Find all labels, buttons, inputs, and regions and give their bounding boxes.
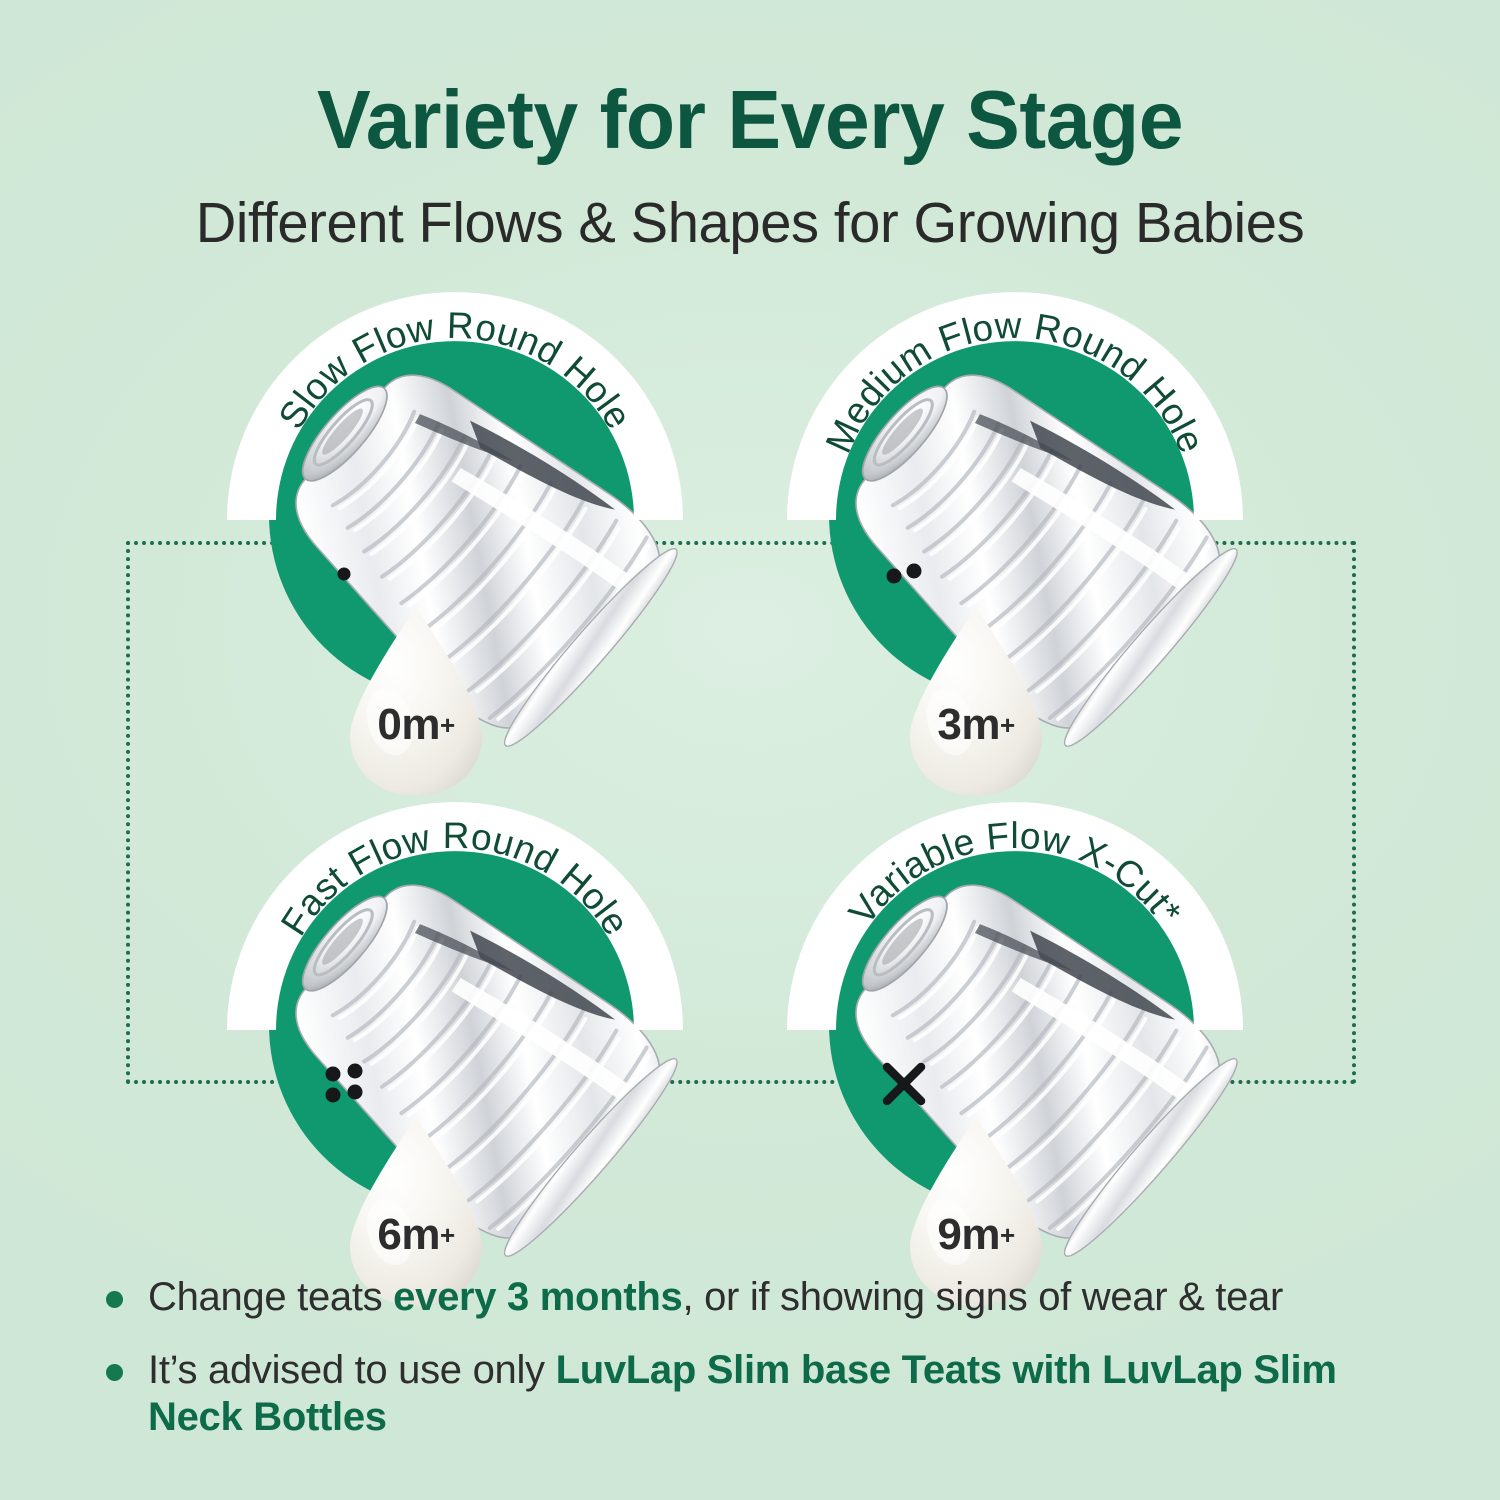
note-highlight: every 3 months [393,1275,682,1319]
notes-list: Change teats every 3 months, or if showi… [100,1274,1440,1466]
note-item: Change teats every 3 months, or if showi… [100,1274,1440,1321]
bullet-dot-icon [106,1291,123,1308]
arc-label-band: Variable Flow X-Cut* [782,792,1248,1258]
note-plain: Change teats [148,1275,393,1319]
arc-label-text: Fast Flow Round Hole [273,815,637,942]
arc-label-band: Fast Flow Round Hole [222,792,688,1258]
note-item: It’s advised to use only LuvLap Slim bas… [100,1347,1440,1441]
note-plain: , or if showing signs of wear & tear [682,1275,1283,1319]
teat-card-fast-flow: Fast Flow Round Hole6m+ [222,792,688,1292]
note-plain: It’s advised to use only [148,1348,556,1392]
teat-disc: Fast Flow Round Hole [222,792,688,1258]
arc-label-text: Variable Flow X-Cut* [841,815,1190,932]
arc-label-text: Slow Flow Round Hole [271,305,640,436]
note-text: It’s advised to use only LuvLap Slim bas… [148,1347,1440,1441]
arc-label-text: Medium Flow Round Hole [818,305,1213,459]
note-text: Change teats every 3 months, or if showi… [148,1274,1440,1321]
teat-disc: Slow Flow Round Hole [222,282,688,748]
bullet-dot-icon [106,1364,123,1381]
arc-label-band: Medium Flow Round Hole [782,282,1248,748]
teat-card-slow-flow: Slow Flow Round Hole0m+ [222,282,688,782]
teat-disc: Variable Flow X-Cut* [782,792,1248,1258]
arc-label-band: Slow Flow Round Hole [222,282,688,748]
teat-disc: Medium Flow Round Hole [782,282,1248,748]
teat-card-medium-flow: Medium Flow Round Hole3m+ [782,282,1248,782]
infographic-canvas: Variety for Every Stage Different Flows … [0,0,1500,1500]
teat-card-variable-flow: Variable Flow X-Cut*9m+ [782,792,1248,1292]
